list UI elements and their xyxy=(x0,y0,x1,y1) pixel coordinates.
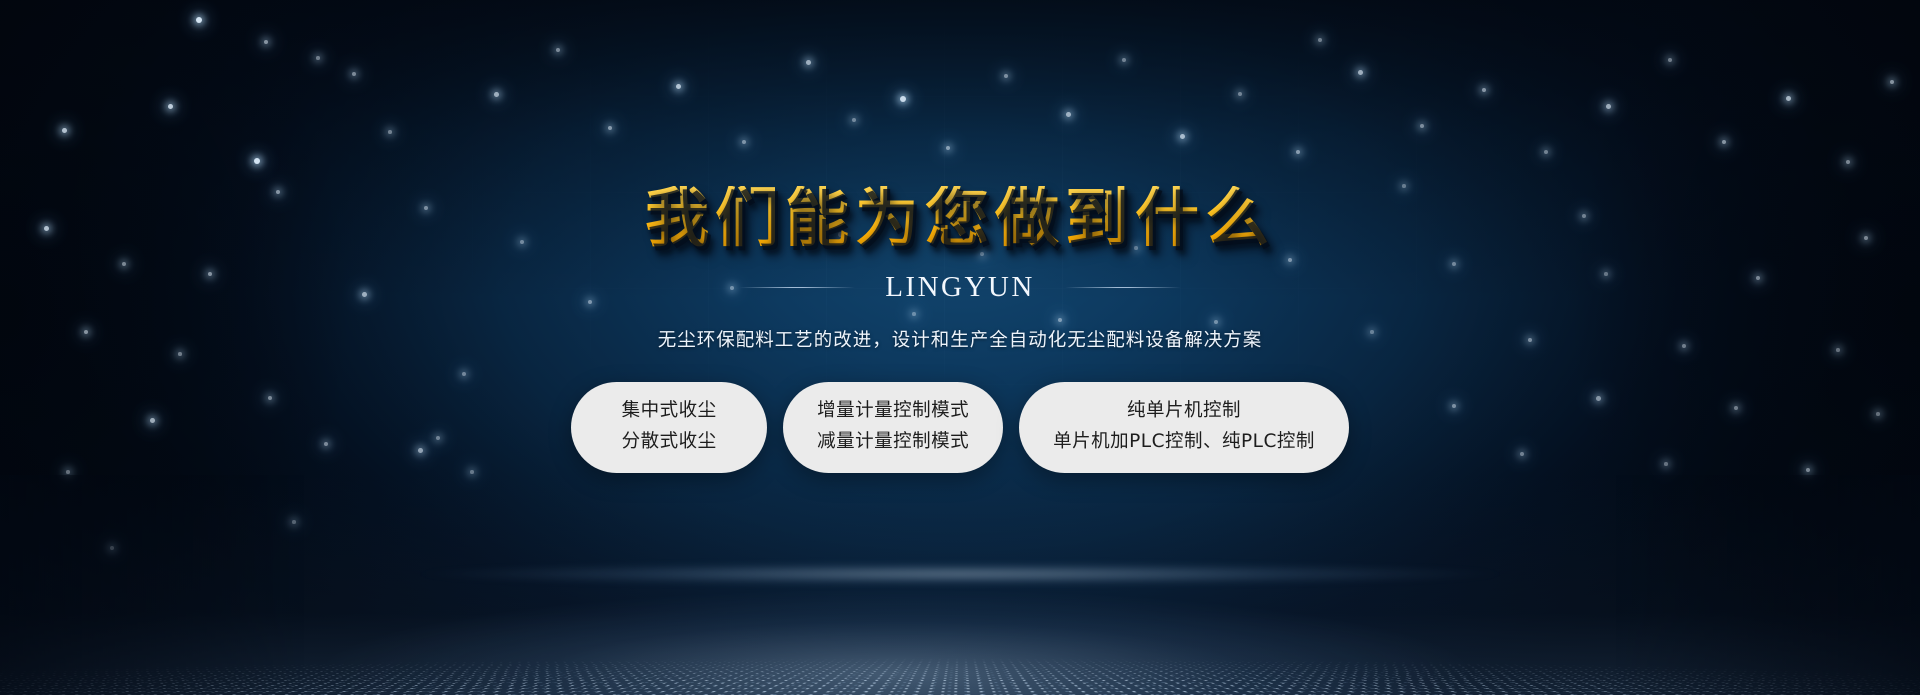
subtitle-row: LINGYUN xyxy=(739,271,1181,304)
feature-card-line: 集中式收尘 xyxy=(622,400,717,421)
banner-content: 我们能为您做到什么 LINGYUN 无尘环保配料工艺的改进，设计和生产全自动化无… xyxy=(0,0,1920,695)
feature-card-list: 集中式收尘 分散式收尘 增量计量控制模式 减量计量控制模式 纯单片机控制 单片机… xyxy=(571,382,1349,473)
feature-card-line: 增量计量控制模式 xyxy=(817,400,969,421)
subtitle-rule-left xyxy=(739,287,855,288)
page-title: 我们能为您做到什么 xyxy=(645,186,1275,253)
feature-card-line: 减量计量控制模式 xyxy=(817,431,969,452)
feature-card-line: 单片机加PLC控制、纯PLC控制 xyxy=(1053,431,1315,452)
feature-card[interactable]: 纯单片机控制 单片机加PLC控制、纯PLC控制 xyxy=(1019,382,1349,473)
banner-description: 无尘环保配料工艺的改进，设计和生产全自动化无尘配料设备解决方案 xyxy=(658,326,1263,352)
feature-card[interactable]: 增量计量控制模式 减量计量控制模式 xyxy=(783,382,1003,473)
hero-banner: 我们能为您做到什么 LINGYUN 无尘环保配料工艺的改进，设计和生产全自动化无… xyxy=(0,0,1920,695)
feature-card-line: 分散式收尘 xyxy=(622,431,717,452)
feature-card[interactable]: 集中式收尘 分散式收尘 xyxy=(571,382,767,473)
subtitle-rule-right xyxy=(1065,287,1181,288)
feature-card-line: 纯单片机控制 xyxy=(1127,400,1241,421)
brand-name: LINGYUN xyxy=(885,271,1035,304)
